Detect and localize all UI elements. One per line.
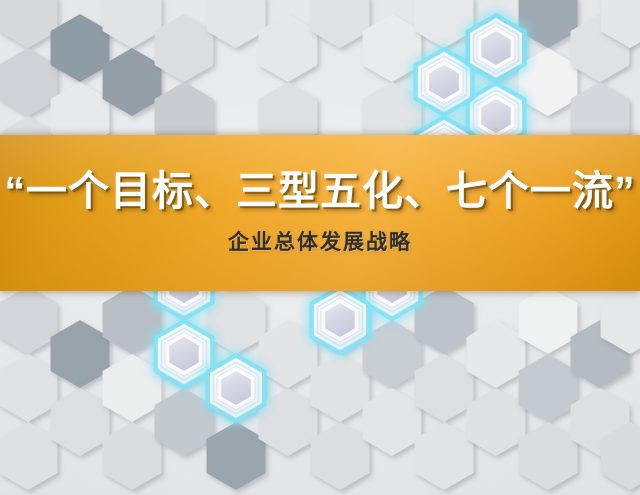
hexagon-tile: [103, 0, 162, 48]
hexagon-tile: [363, 388, 422, 456]
hexagon-tile: [51, 320, 110, 388]
hexagon-tile: [311, 422, 370, 490]
hexagon-tile: [51, 14, 110, 82]
hexagon-tile: [311, 0, 370, 48]
glowing-hexagon: [155, 321, 212, 387]
hexagon-tile: [259, 14, 318, 82]
hexagon-tile: [415, 422, 474, 490]
hexagon-tile: [155, 14, 214, 82]
hexagon-tile: [0, 286, 57, 354]
hexagon-tile: [363, 320, 422, 388]
hexagon-tile: [415, 286, 474, 354]
glowing-hexagon: [415, 49, 472, 115]
slide-canvas: “一个目标、三型五化、七个一流” 企业总体发展战略: [0, 0, 640, 495]
hexagon-tile: [467, 388, 526, 456]
glowing-hexagon: [311, 287, 368, 353]
hexagon-tile: [155, 388, 214, 456]
hexagon-tile: [0, 0, 57, 48]
hexagon-tile: [519, 354, 578, 422]
title-banner: “一个目标、三型五化、七个一流” 企业总体发展战略: [0, 135, 640, 291]
hexagon-tile: [415, 354, 474, 422]
hexagon-tile: [103, 48, 162, 116]
hexagon-tile: [363, 14, 422, 82]
hexagon-tile: [519, 422, 578, 490]
hexagon-tile: [415, 0, 474, 48]
glowing-hexagon: [467, 15, 524, 81]
hexagon-tile: [0, 422, 57, 490]
hexagon-tile: [519, 0, 578, 48]
hexagon-tile: [0, 354, 57, 422]
hexagon-tile: [519, 286, 578, 354]
hexagon-tile: [103, 422, 162, 490]
hexagon-tile: [311, 354, 370, 422]
hexagon-tile: [0, 48, 57, 116]
hexagon-tile: [207, 422, 266, 490]
hexagon-tile: [207, 0, 266, 48]
hexagon-tile: [51, 388, 110, 456]
glowing-hexagon: [207, 355, 264, 421]
hexagon-tile: [259, 388, 318, 456]
hexagon-tile: [259, 320, 318, 388]
page-title: “一个目标、三型五化、七个一流”: [5, 170, 636, 213]
hexagon-tile: [519, 48, 578, 116]
hexagon-tile: [103, 354, 162, 422]
hexagon-tile: [207, 286, 266, 354]
hexagon-tile: [467, 320, 526, 388]
page-subtitle: 企业总体发展战略: [228, 226, 412, 256]
hexagon-tile: [103, 286, 162, 354]
